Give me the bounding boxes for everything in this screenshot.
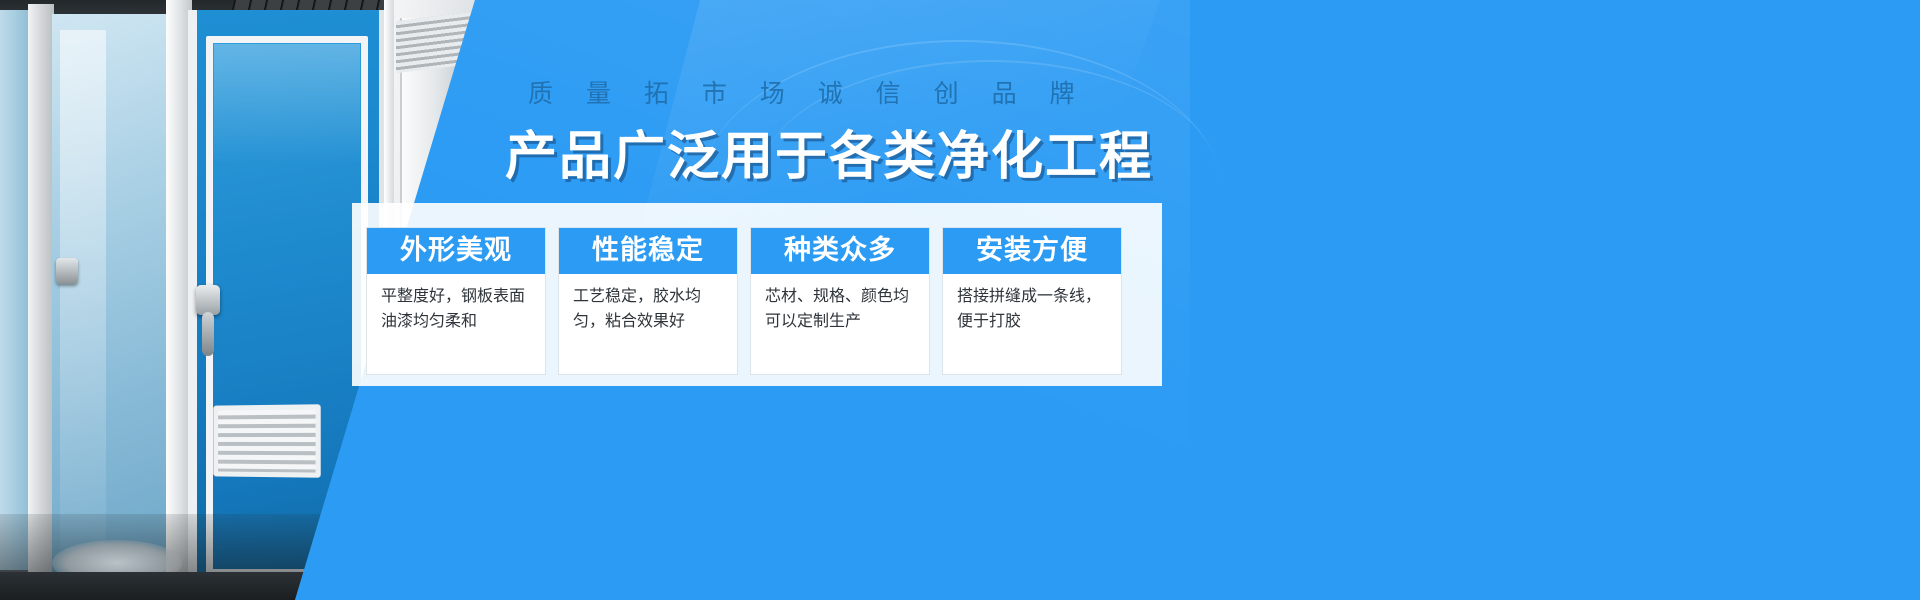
feature-card[interactable]: 安装方便 搭接拼缝成一条线，便于打胶 [942,227,1122,375]
feature-card[interactable]: 外形美观 平整度好，钢板表面油漆均匀柔和 [366,227,546,375]
promo-banner: 质 量 拓 市 场 诚 信 创 品 牌 产品广泛用于各类净化工程 外形美观 平整… [0,0,1920,600]
banner-headline: 产品广泛用于各类净化工程 [505,114,1153,189]
banner-subtitle: 质 量 拓 市 场 诚 信 创 品 牌 [528,74,1088,110]
feature-card[interactable]: 性能稳定 工艺稳定，胶水均匀，粘合效果好 [558,227,738,375]
feature-card-title: 安装方便 [943,228,1121,274]
feature-card-body: 平整度好，钢板表面油漆均匀柔和 [367,274,545,343]
feature-card[interactable]: 种类众多 芯材、规格、颜色均可以定制生产 [750,227,930,375]
feature-card-body: 芯材、规格、颜色均可以定制生产 [751,274,929,343]
feature-card-body: 工艺稳定，胶水均匀，粘合效果好 [559,274,737,343]
feature-card-title: 外形美观 [367,228,545,274]
feature-card-title: 性能稳定 [559,228,737,274]
feature-card-title: 种类众多 [751,228,929,274]
feature-card-strip: 外形美观 平整度好，钢板表面油漆均匀柔和 性能稳定 工艺稳定，胶水均匀，粘合效果… [352,203,1162,386]
feature-card-body: 搭接拼缝成一条线，便于打胶 [943,274,1121,343]
